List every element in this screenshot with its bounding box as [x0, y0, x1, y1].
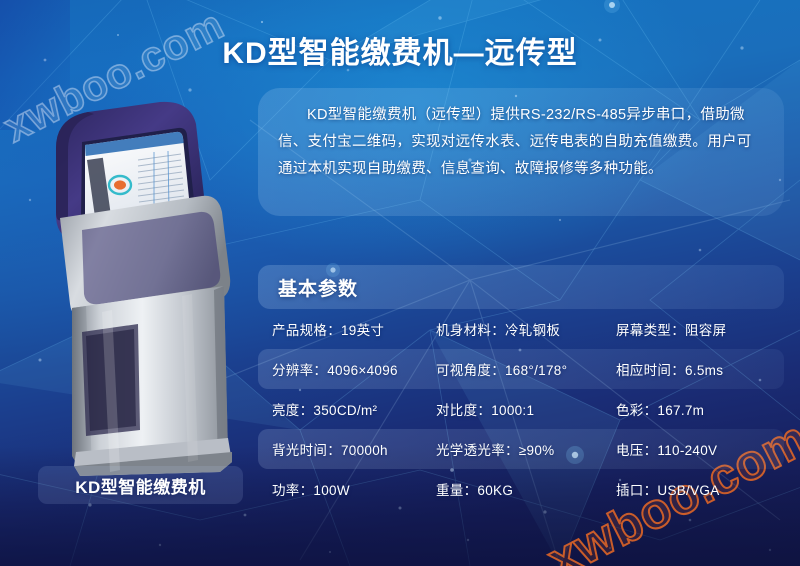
- param-cell: 对比度：1000:1: [436, 399, 534, 419]
- parameters-header-text: 基本参数: [278, 274, 358, 301]
- table-row: 功率：100W 重量：60KG 插口：USB/VGA: [258, 469, 784, 509]
- param-cell: 亮度：350CD/m²: [272, 399, 377, 419]
- description-text: KD型智能缴费机（远传型）提供RS-232/RS-485异步串口，借助微信、支付…: [278, 102, 764, 183]
- description-panel: KD型智能缴费机（远传型）提供RS-232/RS-485异步串口，借助微信、支付…: [258, 88, 784, 216]
- param-cell: 插口：USB/VGA: [616, 479, 720, 499]
- table-row: 亮度：350CD/m² 对比度：1000:1 色彩：167.7m: [258, 389, 784, 429]
- table-row: 分辨率：4096×4096 可视角度：168°/178° 相应时间：6.5ms: [258, 349, 784, 389]
- product-caption: KD型智能缴费机: [38, 466, 243, 504]
- param-cell: 背光时间：70000h: [272, 439, 388, 459]
- param-cell: 功率：100W: [272, 479, 350, 499]
- param-cell: 重量：60KG: [436, 479, 513, 499]
- table-row: 产品规格：19英寸 机身材料：冷轧钢板 屏幕类型：阻容屏: [258, 309, 784, 349]
- param-cell: 产品规格：19英寸: [272, 319, 384, 339]
- param-cell: 电压：110-240V: [616, 439, 717, 459]
- param-cell: 色彩：167.7m: [616, 399, 704, 419]
- parameters-header: 基本参数: [258, 265, 784, 309]
- page-title: KD型智能缴费机—远传型: [0, 28, 800, 72]
- param-cell: 机身材料：冷轧钢板: [436, 319, 560, 339]
- table-row: 背光时间：70000h 光学透光率：≥90% 电压：110-240V: [258, 429, 784, 469]
- product-image: [42, 100, 242, 480]
- param-cell: 屏幕类型：阻容屏: [616, 319, 726, 339]
- param-cell: 光学透光率：≥90%: [436, 439, 554, 459]
- product-poster: xwboo.com xwboo.com KD型智能缴费机—远传型: [0, 0, 800, 566]
- parameters-table: 产品规格：19英寸 机身材料：冷轧钢板 屏幕类型：阻容屏 分辨率：4096×40…: [258, 309, 784, 509]
- param-cell: 可视角度：168°/178°: [436, 359, 567, 379]
- param-cell: 相应时间：6.5ms: [616, 359, 723, 379]
- param-cell: 分辨率：4096×4096: [272, 359, 398, 379]
